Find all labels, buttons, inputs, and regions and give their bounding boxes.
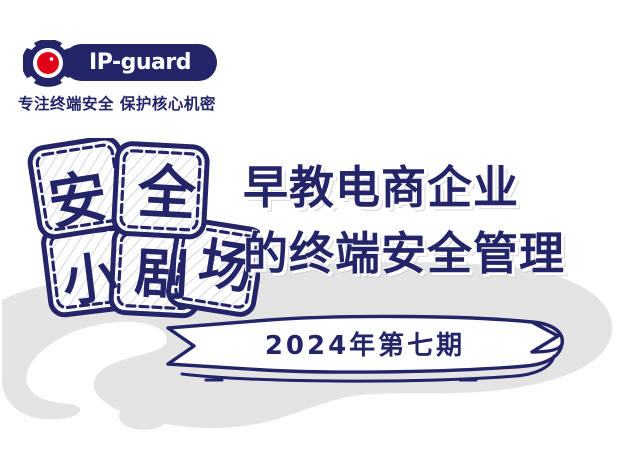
headline-line-1: 早教电商企业 <box>243 152 641 224</box>
poster-canvas: IP-guard 专注终端安全 保护核心机密 <box>0 0 641 460</box>
issue-ribbon: 2024年第七期 <box>160 306 570 386</box>
issue-label: 2024年第七期 <box>160 306 570 386</box>
headline-block: 早教电商企业 的终端安全管理 <box>243 152 641 290</box>
headline-line-2: 的终端安全管理 <box>243 218 641 290</box>
tile-group-safety-theater: 安 全 小 剧 场 <box>0 0 260 220</box>
